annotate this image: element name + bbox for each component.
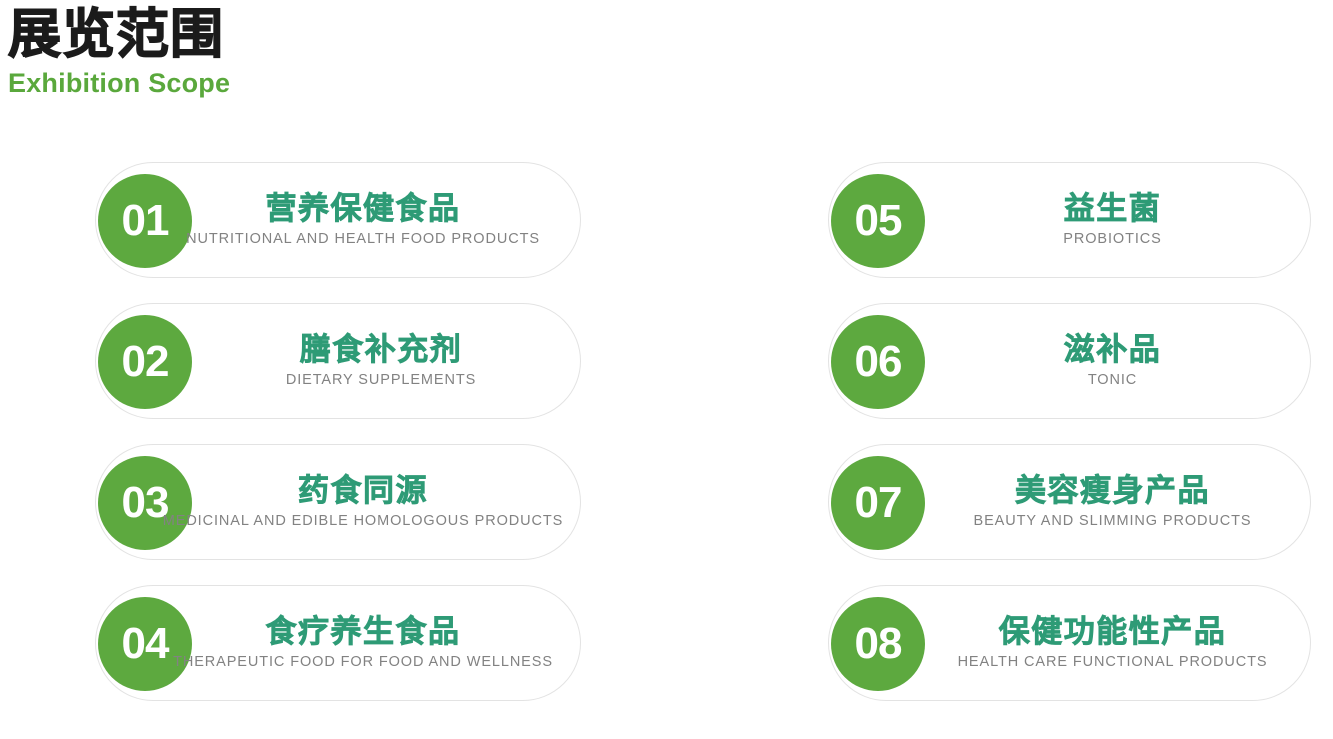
scope-card-number: 08 (855, 622, 902, 666)
scope-card-text: 益生菌 PROBIOTICS (925, 163, 1300, 277)
scope-card[interactable]: 02 膳食补充剂 DIETARY SUPPLEMENTS (95, 303, 581, 419)
scope-card[interactable]: 01 营养保健食品 NUTRITIONAL AND HEALTH FOOD PR… (95, 162, 581, 278)
scope-card-number: 05 (855, 199, 902, 243)
scope-card-badge: 05 (831, 174, 925, 268)
scope-card-title-cn: 药食同源 (298, 474, 428, 509)
scope-card-title-cn: 营养保健食品 (266, 192, 461, 227)
scope-card-number: 06 (855, 340, 902, 384)
scope-card-number: 07 (855, 481, 902, 525)
scope-card[interactable]: 07 美容瘦身产品 BEAUTY AND SLIMMING PRODUCTS (828, 444, 1311, 560)
scope-card[interactable]: 06 滋补品 TONIC (828, 303, 1311, 419)
scope-card-subtitle-en: BEAUTY AND SLIMMING PRODUCTS (974, 514, 1252, 530)
scope-card-subtitle-en: DIETARY SUPPLEMENTS (286, 373, 476, 389)
scope-column-right: 05 益生菌 PROBIOTICS 06 滋补品 TONIC 07 美容瘦身产品… (828, 162, 1311, 701)
scope-card-title-cn: 滋补品 (1064, 333, 1162, 368)
scope-card-title-cn: 保健功能性产品 (999, 615, 1227, 650)
scope-card-text: 膳食补充剂 DIETARY SUPPLEMENTS (192, 304, 570, 418)
scope-card[interactable]: 08 保健功能性产品 HEALTH CARE FUNCTIONAL PRODUC… (828, 585, 1311, 701)
scope-card-title-cn: 食疗养生食品 (266, 615, 461, 650)
scope-card-text: 营养保健食品 NUTRITIONAL AND HEALTH FOOD PRODU… (156, 163, 570, 277)
scope-card-subtitle-en: NUTRITIONAL AND HEALTH FOOD PRODUCTS (186, 232, 540, 248)
scope-card-text: 滋补品 TONIC (925, 304, 1300, 418)
scope-card-text: 保健功能性产品 HEALTH CARE FUNCTIONAL PRODUCTS (925, 586, 1300, 700)
scope-card-text: 美容瘦身产品 BEAUTY AND SLIMMING PRODUCTS (925, 445, 1300, 559)
scope-card-badge: 02 (98, 315, 192, 409)
scope-card-subtitle-en: PROBIOTICS (1063, 232, 1161, 248)
scope-card-title-cn: 美容瘦身产品 (1015, 474, 1210, 509)
scope-card-subtitle-en: MEDICINAL AND EDIBLE HOMOLOGOUS PRODUCTS (163, 514, 563, 530)
page-title-cn: 展览范围 (8, 8, 230, 62)
scope-card-badge: 08 (831, 597, 925, 691)
scope-card-badge: 06 (831, 315, 925, 409)
scope-card-number: 02 (122, 340, 169, 384)
scope-card-title-cn: 益生菌 (1064, 192, 1162, 227)
scope-card-subtitle-en: THERAPEUTIC FOOD FOR FOOD AND WELLNESS (173, 655, 553, 671)
scope-card-subtitle-en: HEALTH CARE FUNCTIONAL PRODUCTS (958, 655, 1268, 671)
scope-card-text: 药食同源 MEDICINAL AND EDIBLE HOMOLOGOUS PRO… (156, 445, 570, 559)
scope-card-subtitle-en: TONIC (1088, 373, 1137, 389)
page-title-en: Exhibition Scope (8, 68, 230, 99)
scope-card[interactable]: 03 药食同源 MEDICINAL AND EDIBLE HOMOLOGOUS … (95, 444, 581, 560)
scope-card-title-cn: 膳食补充剂 (300, 333, 463, 368)
scope-card[interactable]: 04 食疗养生食品 THERAPEUTIC FOOD FOR FOOD AND … (95, 585, 581, 701)
page-header: 展览范围 Exhibition Scope (8, 8, 230, 99)
scope-card-badge: 07 (831, 456, 925, 550)
scope-column-left: 01 营养保健食品 NUTRITIONAL AND HEALTH FOOD PR… (95, 162, 581, 701)
scope-card-text: 食疗养生食品 THERAPEUTIC FOOD FOR FOOD AND WEL… (156, 586, 570, 700)
scope-card[interactable]: 05 益生菌 PROBIOTICS (828, 162, 1311, 278)
